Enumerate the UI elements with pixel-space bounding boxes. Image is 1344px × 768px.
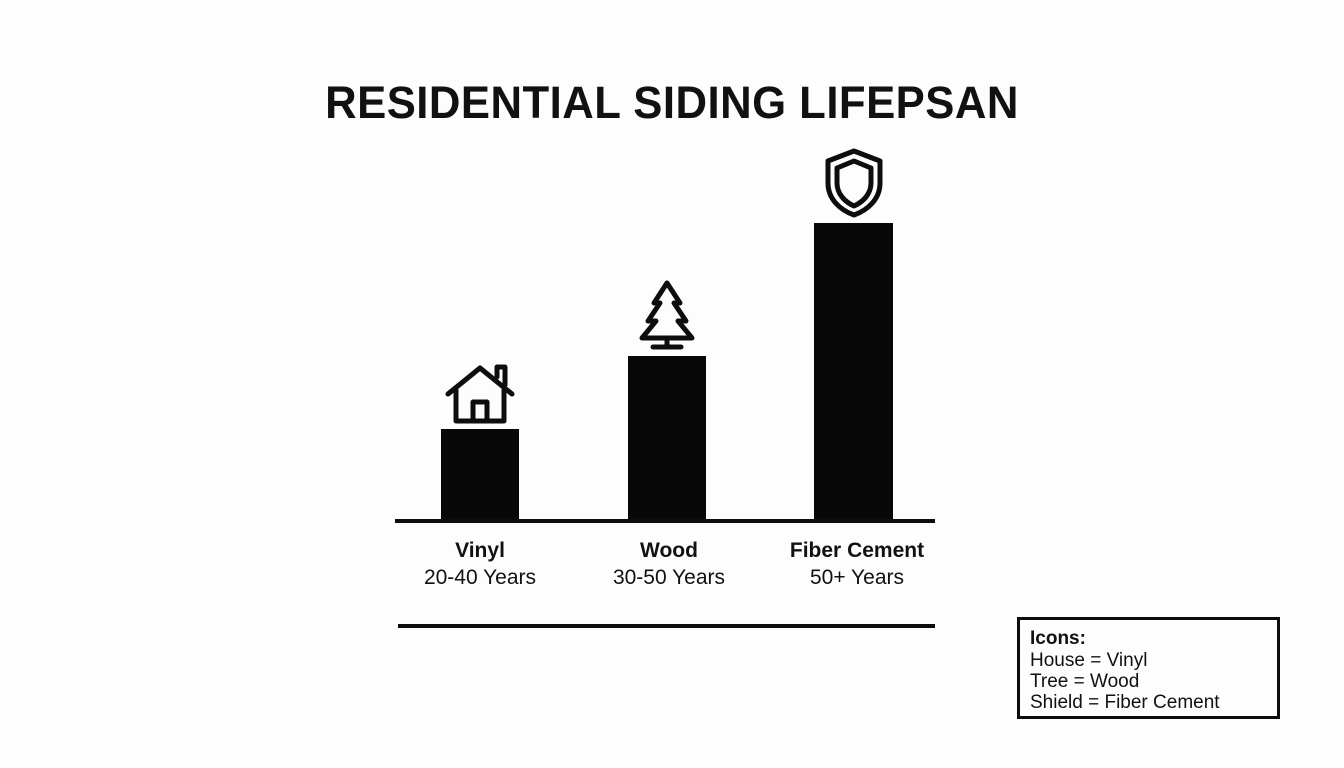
legend-item-tree: Tree = Wood — [1030, 671, 1277, 692]
category-years-wood: 30-50 Years — [564, 564, 774, 592]
shield-icon — [824, 147, 884, 219]
category-years-vinyl: 20-40 Years — [375, 564, 585, 592]
category-name-vinyl: Vinyl — [375, 538, 585, 564]
category-name-wood: Wood — [564, 538, 774, 564]
icon-legend: Icons: House = Vinyl Tree = Wood Shield … — [1017, 617, 1280, 719]
house-icon — [445, 364, 515, 426]
category-years-fiber-cement: 50+ Years — [752, 564, 962, 592]
legend-item-shield: Shield = Fiber Cement — [1030, 692, 1277, 713]
category-label-wood: Wood 30-50 Years — [564, 538, 774, 592]
divider-rule — [398, 624, 935, 628]
infographic-canvas: RESIDENTIAL SIDING LIFEPSAN — [0, 0, 1344, 768]
bar-wood — [628, 356, 706, 519]
tree-icon — [634, 279, 700, 351]
legend-heading: Icons: — [1030, 628, 1277, 650]
category-label-fiber-cement: Fiber Cement 50+ Years — [752, 538, 962, 592]
category-label-vinyl: Vinyl 20-40 Years — [375, 538, 585, 592]
legend-item-house: House = Vinyl — [1030, 650, 1277, 671]
bar-vinyl — [441, 429, 519, 519]
bar-fiber-cement — [814, 223, 893, 519]
x-axis-baseline — [395, 519, 935, 523]
category-name-fiber-cement: Fiber Cement — [752, 538, 962, 564]
